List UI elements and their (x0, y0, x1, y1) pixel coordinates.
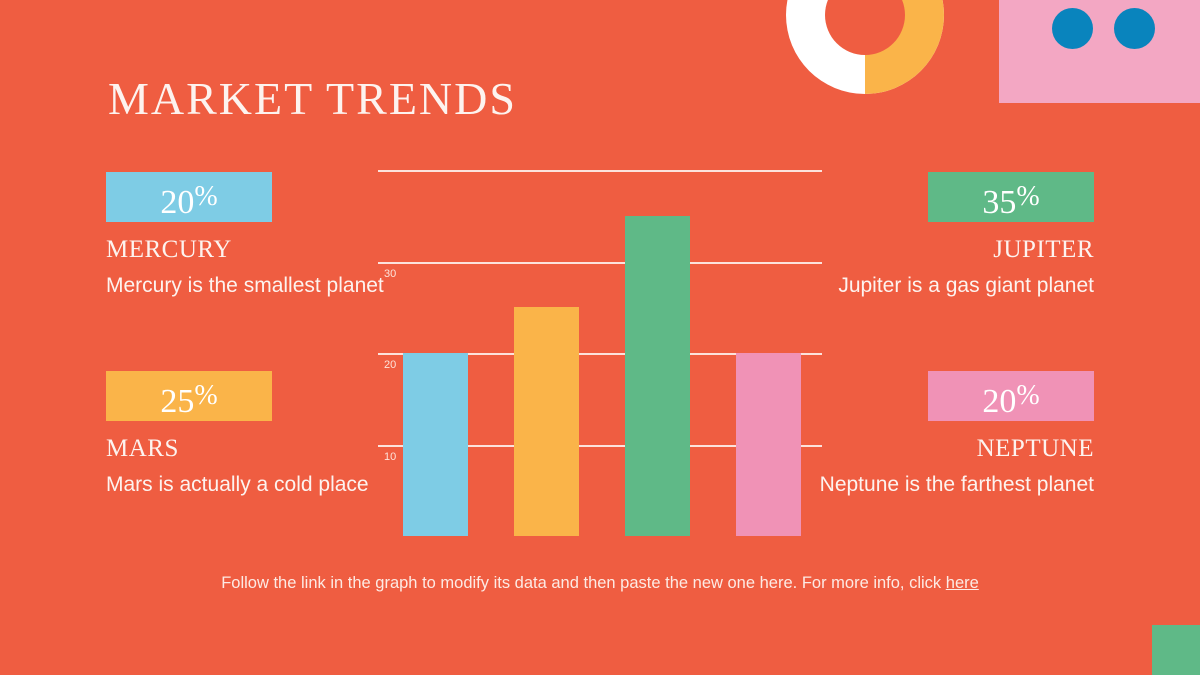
chart-bar (736, 353, 801, 536)
donut-shape (786, 0, 944, 94)
footer-note-text: Follow the link in the graph to modify i… (221, 574, 946, 592)
bar-chart[interactable]: 102030 (378, 170, 822, 536)
stat-badge-mercury: 20% (106, 172, 272, 222)
chart-bar (625, 216, 690, 536)
percent-symbol: % (194, 380, 217, 411)
chart-y-tick-label: 10 (384, 451, 396, 463)
slide-canvas: MARKET TRENDS 20% MERCURY Mercury is the… (0, 0, 1200, 675)
stat-badge-mars: 25% (106, 371, 272, 421)
footer-note: Follow the link in the graph to modify i… (0, 574, 1200, 593)
footer-link[interactable]: here (946, 574, 979, 592)
stat-percent-value: 25 (160, 383, 194, 420)
chart-y-tick-label: 20 (384, 359, 396, 371)
stat-badge-jupiter: 35% (928, 172, 1094, 222)
chart-bar (514, 307, 579, 536)
percent-symbol: % (1016, 181, 1039, 212)
percent-symbol: % (194, 181, 217, 212)
stat-percent-value: 35 (982, 184, 1016, 221)
chart-gridline (378, 262, 822, 264)
blue-dot-icon (1052, 8, 1093, 49)
stat-percent-value: 20 (160, 184, 194, 221)
stat-badge-neptune: 20% (928, 371, 1094, 421)
percent-symbol: % (1016, 380, 1039, 411)
page-title: MARKET TRENDS (108, 72, 517, 125)
stat-percent-value: 20 (982, 383, 1016, 420)
pink-card-shape (999, 0, 1200, 103)
chart-y-tick-label: 30 (384, 268, 396, 280)
green-corner-shape (1152, 625, 1200, 675)
chart-gridline (378, 170, 822, 172)
blue-dot-icon (1114, 8, 1155, 49)
chart-bar (403, 353, 468, 536)
